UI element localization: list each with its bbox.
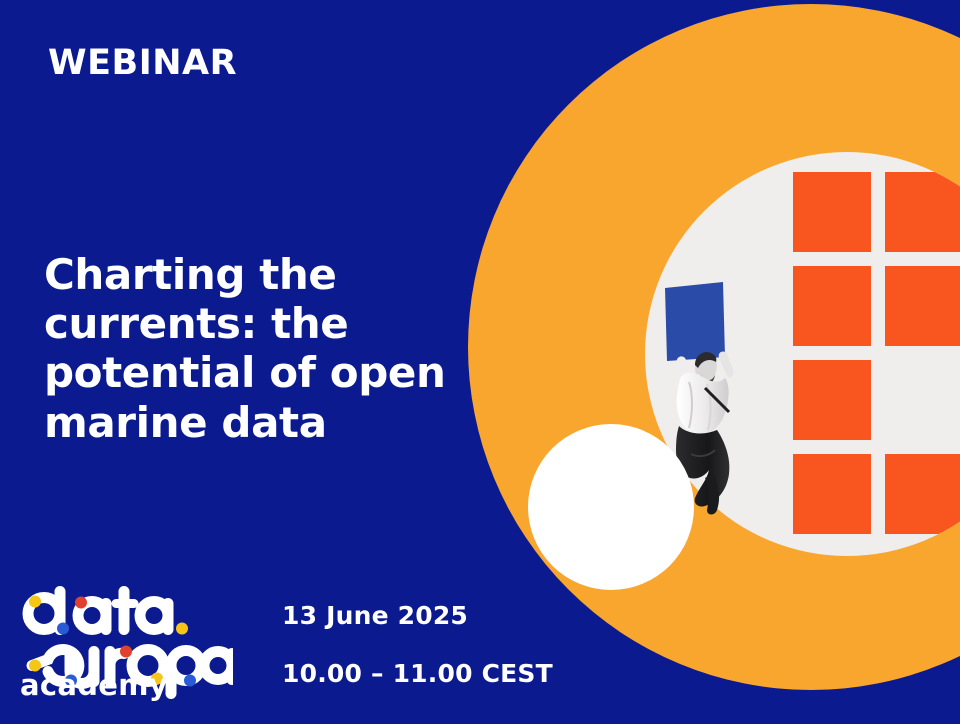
- logo-dot-blue: [57, 623, 69, 635]
- grid-square: [793, 172, 871, 252]
- event-time: 10.00 – 11.00 CEST: [282, 659, 553, 688]
- logo-academy-label: academy: [20, 668, 168, 702]
- grid-square-empty: [885, 360, 960, 440]
- logo-dot-blue-3: [184, 675, 196, 687]
- webinar-poster: WEBINAR Charting the currents: the poten…: [0, 0, 960, 724]
- logo-dot-yellow-2: [176, 623, 188, 635]
- grid-square: [885, 172, 960, 252]
- grid-square: [793, 266, 871, 346]
- logo-dot-red: [75, 597, 87, 609]
- logo-dot-red-2: [120, 646, 132, 658]
- held-blue-square: [665, 282, 725, 361]
- page-title: Charting the currents: the potential of …: [44, 250, 474, 447]
- grid-square: [793, 454, 871, 534]
- grid-square: [885, 266, 960, 346]
- logo-dot-yellow: [29, 596, 41, 608]
- event-date: 13 June 2025: [282, 601, 468, 630]
- grid-square: [885, 454, 960, 534]
- kicker-label: WEBINAR: [48, 44, 237, 83]
- grid-square: [793, 360, 871, 440]
- white-circle-shape: [528, 424, 694, 590]
- orange-square-grid: [793, 172, 960, 534]
